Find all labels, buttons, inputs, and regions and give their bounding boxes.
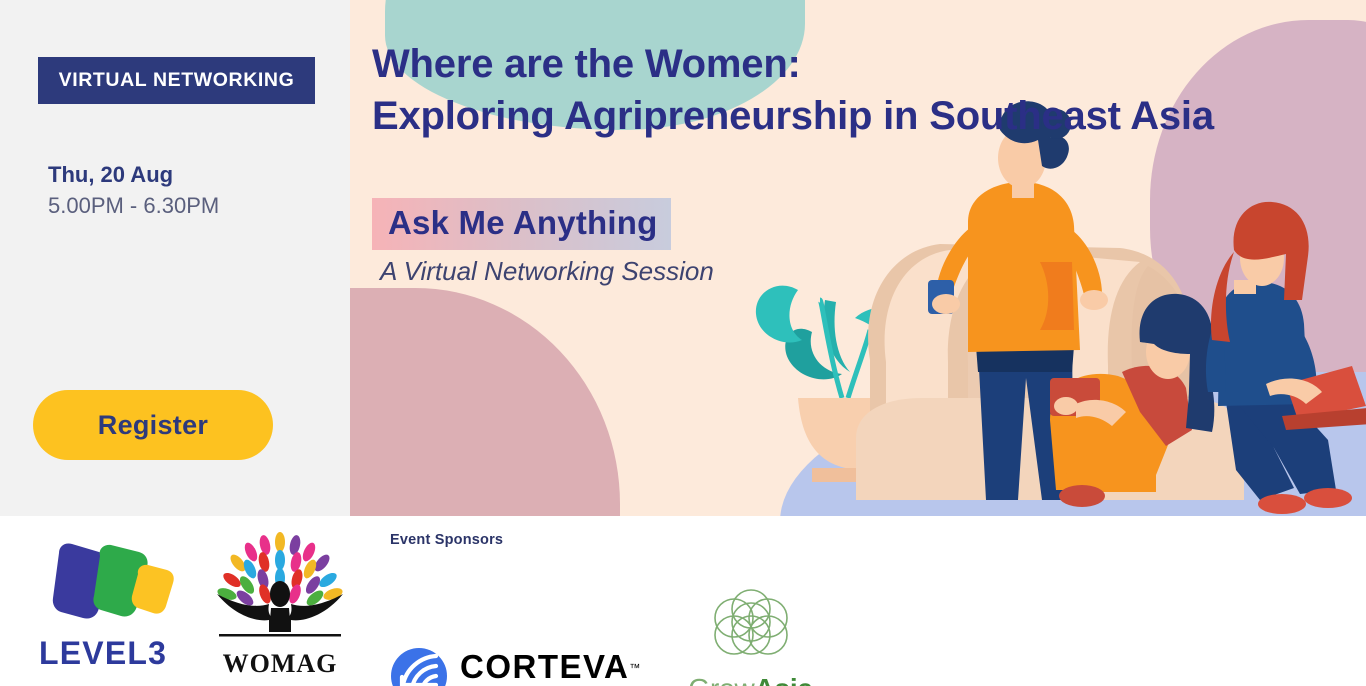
footer-logos-bar: LEVEL3 <box>0 516 1366 686</box>
growasia-logo: GrowAsia <box>688 578 812 686</box>
ask-me-anything-wrapper: Ask Me Anything <box>372 198 671 250</box>
ask-me-anything-label: Ask Me Anything <box>388 204 657 241</box>
event-sponsors-label: Event Sponsors <box>390 532 813 548</box>
event-datetime-block: Thu, 20 Aug 5.00PM - 6.30PM <box>48 160 219 222</box>
event-date: Thu, 20 Aug <box>48 160 219 190</box>
event-sponsors-section: Event Sponsors <box>390 532 813 686</box>
event-time: 5.00PM - 6.30PM <box>48 190 219 222</box>
level3-mark-icon <box>25 536 190 628</box>
corteva-wordmark-block: CORTEVA™ agriscience <box>460 650 640 686</box>
register-button[interactable]: Register <box>33 390 273 460</box>
level3-wordmark: LEVEL3 <box>25 635 190 672</box>
hero-panel: Where are the Women: Exploring Agriprene… <box>350 0 1366 516</box>
sponsor-logo-row: CORTEVA™ agriscience <box>390 578 813 686</box>
register-button-label: Register <box>98 410 208 441</box>
event-banner: VIRTUAL NETWORKING Thu, 20 Aug 5.00PM - … <box>0 0 1366 686</box>
ask-me-anything-highlight: Ask Me Anything <box>372 198 671 250</box>
growasia-wordmark: GrowAsia <box>688 673 812 686</box>
corteva-logo: CORTEVA™ agriscience <box>390 647 640 686</box>
left-info-panel: VIRTUAL NETWORKING Thu, 20 Aug 5.00PM - … <box>0 0 350 516</box>
womag-tree-icon <box>205 528 355 648</box>
womag-logo: WOMAG <box>205 528 355 683</box>
title-line-2: Exploring Agripreneurship in Southeast A… <box>372 90 1214 142</box>
growasia-grow-text: Grow <box>688 673 754 686</box>
hero-subtitle: A Virtual Networking Session <box>380 256 714 287</box>
corteva-mark-icon <box>390 647 448 686</box>
corteva-name: CORTEVA <box>460 648 629 685</box>
rose-blob-decoration <box>350 288 620 516</box>
blue-floor-decoration <box>780 372 1366 516</box>
virtual-networking-badge: VIRTUAL NETWORKING <box>38 57 315 104</box>
growasia-asia-text: Asia <box>755 673 813 686</box>
title-line-1: Where are the Women: <box>372 38 1214 90</box>
corteva-trademark-symbol: ™ <box>629 663 640 675</box>
growasia-flower-icon <box>703 578 799 666</box>
level3-logo: LEVEL3 <box>25 536 190 666</box>
hero-title: Where are the Women: Exploring Agriprene… <box>372 38 1214 142</box>
badge-label: VIRTUAL NETWORKING <box>59 69 295 92</box>
womag-wordmark: WOMAG <box>205 649 355 679</box>
